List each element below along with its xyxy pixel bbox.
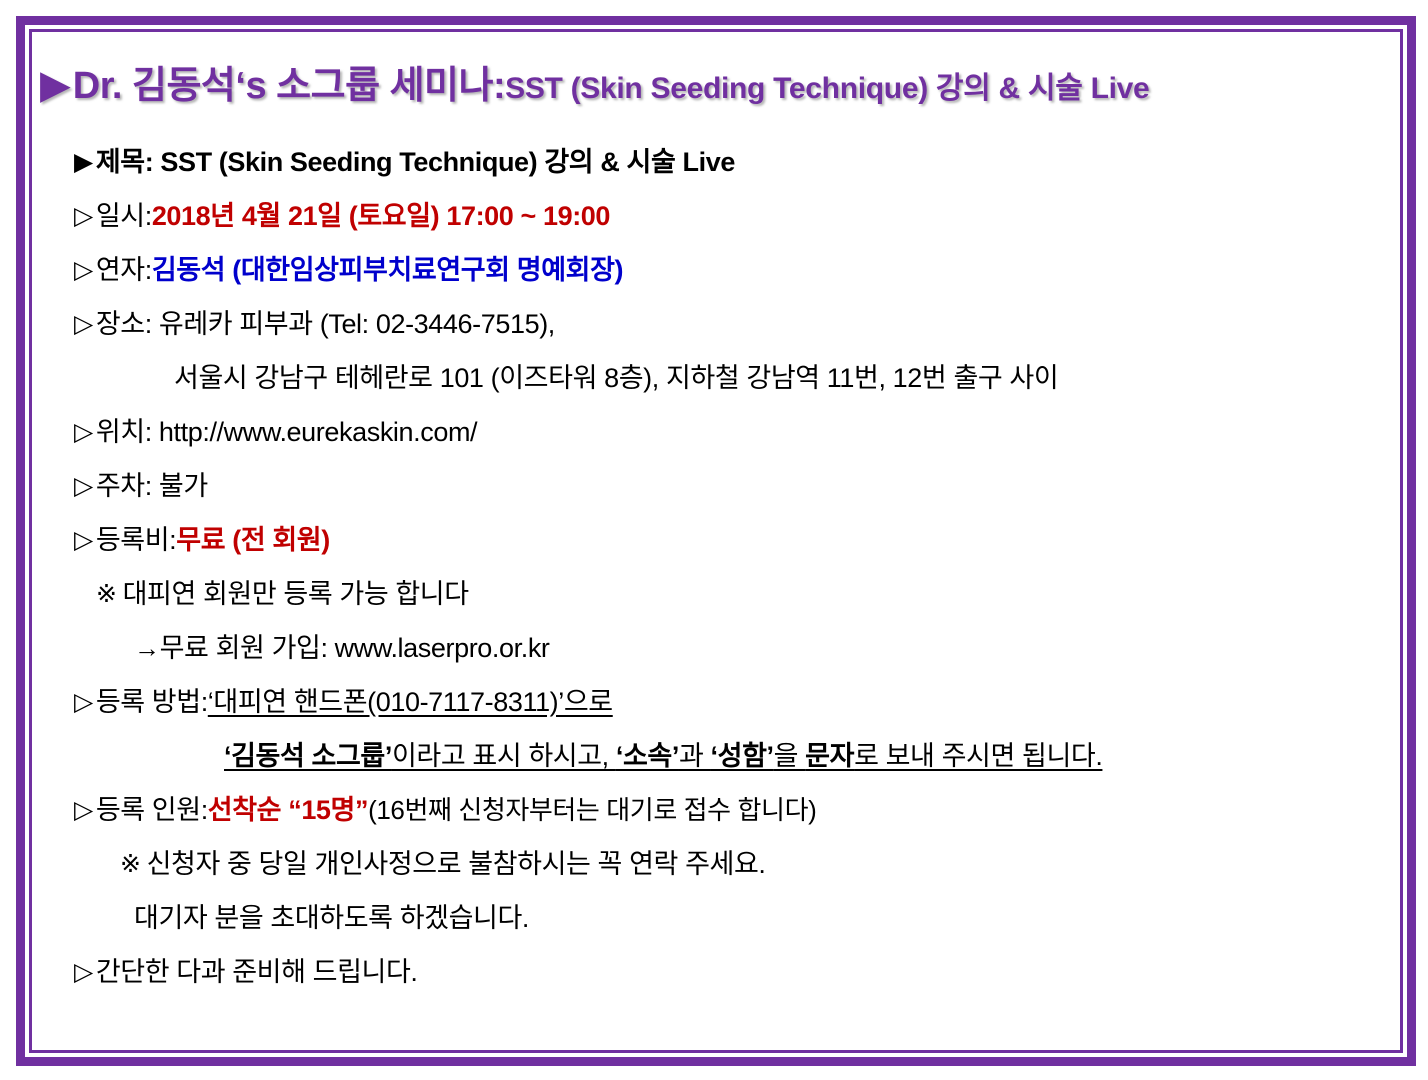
note-join-text[interactable]: 무료 회원 가입: www.laserpro.or.kr — [160, 635, 550, 662]
line-method-continued: ‘김동석 소그룹’이라고 표시 하시고, ‘소속’과 ‘성함’을 문자로 보내 … — [74, 729, 1398, 783]
speaker-value: 김동석 (대한임상피부치료연구회 명예회장) — [152, 257, 623, 284]
method-plain-1: 이라고 표시 하시고, — [392, 741, 616, 771]
method-affiliation-word: ‘소속’ — [616, 741, 679, 771]
line-refreshments: ▷ 간단한 다과 준비해 드립니다. — [74, 945, 1398, 999]
method-phone-value: ‘대피연 핸드폰(010-7117-8311)’으로 — [208, 689, 613, 716]
title-bullet-icon: ▶ — [40, 65, 71, 105]
line-note-waitlist: 대기자 분을 초대하도록 하겠습니다. — [74, 891, 1398, 945]
line-note-absence: ※ 신청자 중 당일 개인사정으로 불참하시는 꼭 연락 주세요. — [74, 837, 1398, 891]
fee-label: 등록비: — [96, 527, 176, 554]
line-speaker: ▷ 연자: 김동석 (대한임상피부치료연구회 명예회장) — [74, 243, 1398, 297]
method-group-name: ‘김동석 소그룹’ — [224, 741, 392, 771]
venue-address-text: 서울시 강남구 테헤란로 101 (이즈타워 8층), 지하철 강남역 11번,… — [174, 365, 1058, 392]
speaker-label: 연자: — [96, 257, 152, 284]
line-note-join: → 무료 회원 가입: www.laserpro.or.kr — [74, 621, 1398, 675]
hollow-triangle-icon: ▷ — [74, 204, 93, 229]
note-waitlist-text: 대기자 분을 초대하도록 하겠습니다. — [134, 905, 529, 932]
location-url-text[interactable]: 위치: http://www.eurekaskin.com/ — [96, 419, 477, 446]
arrow-right-icon: → — [134, 635, 160, 661]
reference-mark-icon: ※ — [120, 852, 141, 877]
method-continued-group: ‘김동석 소그룹’이라고 표시 하시고, ‘소속’과 ‘성함’을 문자로 보내 … — [224, 743, 1102, 770]
line-subject: ▶ 제목: SST (Skin Seeding Technique) 강의 & … — [74, 135, 1398, 189]
line-fee: ▷ 등록비: 무료 (전 회원) — [74, 513, 1398, 567]
solid-triangle-icon: ▶ — [74, 150, 93, 175]
fee-value: 무료 (전 회원) — [176, 527, 330, 554]
hollow-triangle-icon: ▷ — [74, 312, 93, 337]
note-absence-text: 신청자 중 당일 개인사정으로 불참하시는 꼭 연락 주세요. — [147, 851, 766, 878]
method-plain-4: 로 보내 주시면 됩니다. — [854, 741, 1102, 771]
line-capacity: ▷ 등록 인원: 선착순 “15명” (16번째 신청자부터는 대기로 접수 합… — [74, 783, 1398, 837]
title-sub-text: SST (Skin Seeding Technique) 강의 & 시술 Liv… — [505, 63, 1149, 107]
hollow-triangle-icon: ▷ — [74, 420, 93, 445]
hollow-triangle-icon: ▷ — [74, 960, 93, 985]
slide-content: ▶ Dr. 김동석‘s 소그룹 세미나: SST (Skin Seeding T… — [34, 34, 1398, 1048]
line-location: ▷ 위치: http://www.eurekaskin.com/ — [74, 405, 1398, 459]
parking-text: 주차: 불가 — [96, 473, 208, 500]
subject-text: 제목: SST (Skin Seeding Technique) 강의 & 시술… — [96, 149, 735, 176]
line-venue: ▷ 장소: 유레카 피부과 (Tel: 02-3446-7515), — [74, 297, 1398, 351]
hollow-triangle-icon: ▷ — [74, 690, 93, 715]
datetime-value: 2018년 4월 21일 (토요일) 17:00 ~ 19:00 — [152, 203, 610, 230]
page-title: ▶ Dr. 김동석‘s 소그룹 세미나: SST (Skin Seeding T… — [34, 34, 1398, 109]
note-members-text: 대피연 회원만 등록 가능 합니다 — [123, 581, 469, 608]
hollow-triangle-icon: ▷ — [74, 474, 93, 499]
slide-root: ▶ Dr. 김동석‘s 소그룹 세미나: SST (Skin Seeding T… — [0, 0, 1428, 1080]
line-datetime: ▷ 일시: 2018년 4월 21일 (토요일) 17:00 ~ 19:00 — [74, 189, 1398, 243]
method-plain-3: 을 — [774, 741, 806, 771]
hollow-triangle-icon: ▷ — [74, 528, 93, 553]
method-sms-word: 문자 — [805, 741, 854, 771]
method-fullname-word: ‘성함’ — [711, 741, 774, 771]
capacity-value: 선착순 “15명” — [208, 797, 368, 824]
title-main-text: Dr. 김동석‘s 소그룹 세미나: — [73, 54, 505, 109]
refreshments-text: 간단한 다과 준비해 드립니다. — [96, 959, 418, 986]
line-parking: ▷ 주차: 불가 — [74, 459, 1398, 513]
hollow-triangle-icon: ▷ — [74, 798, 93, 823]
venue-text: 장소: 유레카 피부과 (Tel: 02-3446-7515), — [96, 311, 555, 338]
datetime-label: 일시: — [96, 203, 152, 230]
capacity-label: 등록 인원: — [96, 797, 208, 824]
line-venue-address: 서울시 강남구 테헤란로 101 (이즈타워 8층), 지하철 강남역 11번,… — [74, 351, 1398, 405]
body-lines: ▶ 제목: SST (Skin Seeding Technique) 강의 & … — [34, 109, 1398, 999]
reference-mark-icon: ※ — [96, 582, 117, 607]
method-label: 등록 방법: — [96, 689, 208, 716]
line-method: ▷ 등록 방법: ‘대피연 핸드폰(010-7117-8311)’으로 — [74, 675, 1398, 729]
line-note-members: ※ 대피연 회원만 등록 가능 합니다 — [74, 567, 1398, 621]
method-plain-2: 과 — [679, 741, 711, 771]
hollow-triangle-icon: ▷ — [74, 258, 93, 283]
capacity-note: (16번째 신청자부터는 대기로 접수 합니다) — [368, 797, 816, 823]
